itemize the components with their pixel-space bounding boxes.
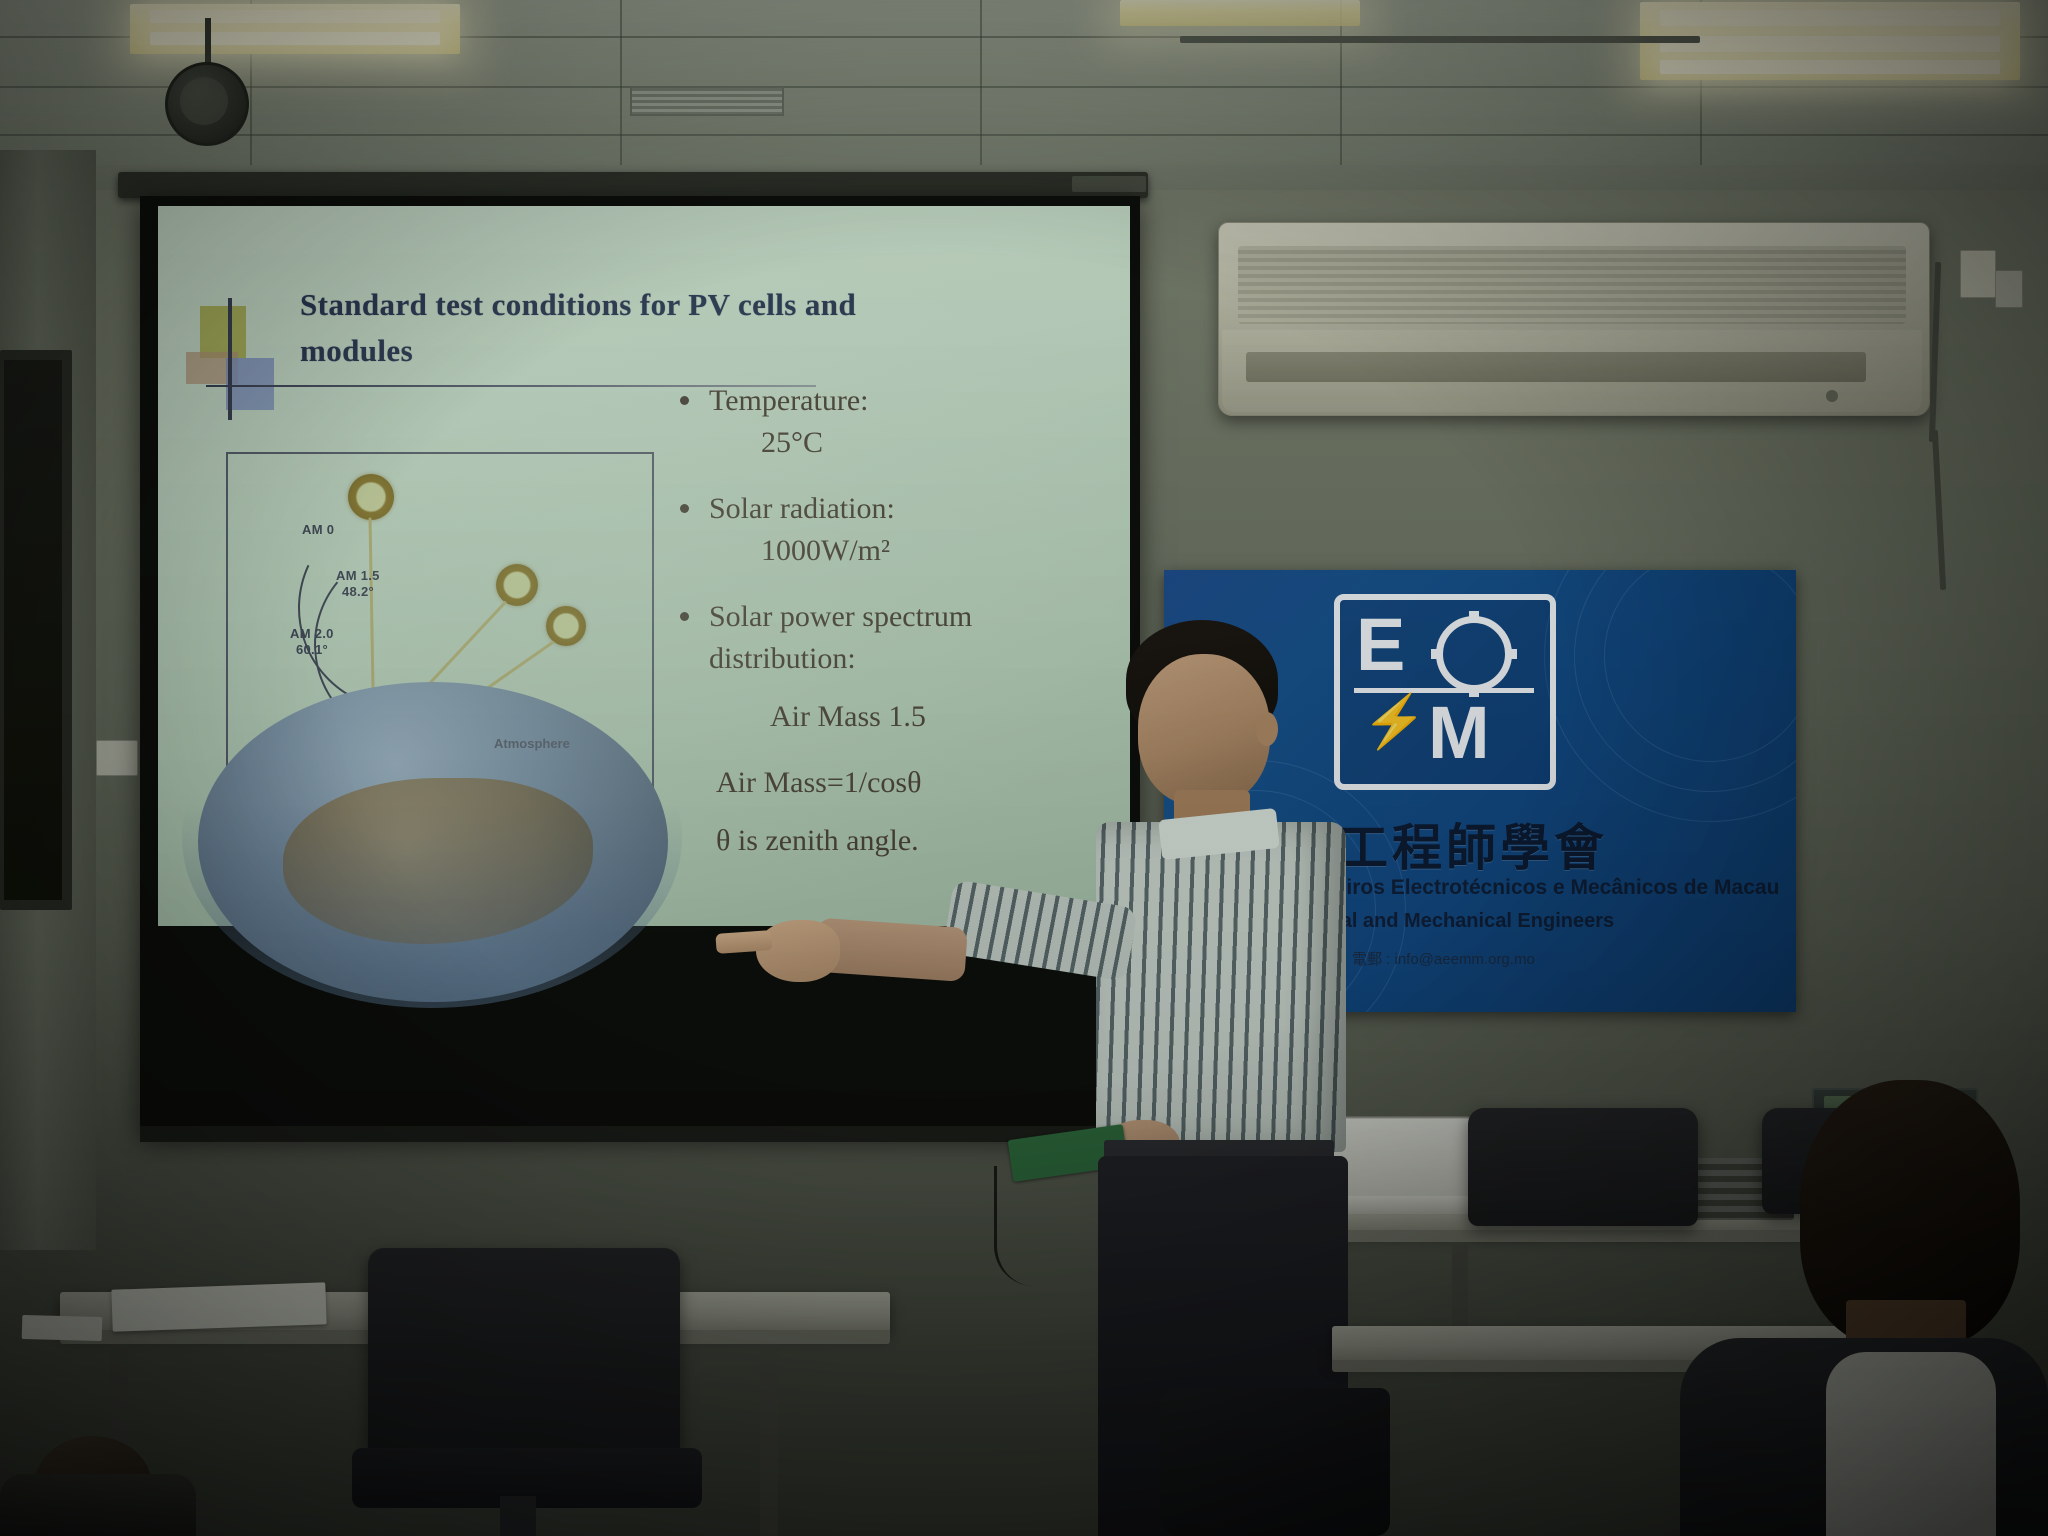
projector-screen-housing [118,172,1148,198]
slide-title-line2: modules [300,328,980,374]
diagram-label-am20: AM 2.0 [290,626,334,642]
ceiling-pipe [1180,36,1700,43]
bullet-dot-icon [680,396,689,405]
wall-outlet[interactable] [1995,270,2023,308]
presenter-torso [1096,822,1346,1152]
atmosphere-band [182,668,682,1008]
bullet-label: Solar power spectrum [709,596,972,638]
diagram-label-atmosphere: Atmosphere [494,736,570,751]
presenter-hand [756,920,840,982]
ceiling-light-tube-left-1 [150,10,440,23]
presenter-cable [994,1166,1037,1286]
slide-deco-vertical-line [228,298,232,420]
bullet-value: distribution: [709,638,972,680]
paper-sheet [22,1315,103,1341]
ceiling-light-tube-right-2 [1660,36,2000,52]
paper-stack [111,1282,326,1331]
diagram-label-angle-482: 48.2° [342,584,374,600]
lecture-room-photo: Standard test conditions for PV cells an… [0,0,2048,1536]
air-conditioner-junction-box [1960,250,1996,298]
diagram-label-angle-601: 60.1° [296,642,328,658]
ceiling-light-tube-right-3 [1660,60,2000,74]
projection-screen-weight-bar [140,1126,1140,1142]
clock-face [180,77,228,125]
air-conditioner-grille [1238,246,1906,324]
slide-note-air-mass-formula: Air Mass=1/cosθ [716,762,921,804]
bullet-dot-icon [680,612,689,621]
diagram-label-am15: AM 1.5 [336,568,380,584]
air-conditioner-vent [1246,352,1866,382]
wall-light-switch[interactable] [96,740,138,776]
air-mass-diagram: AM 0 AM 1.5 48.2° AM 2.0 60.1° Atmospher… [226,452,654,828]
ceiling-light-panel-center [1120,0,1360,26]
slide-deco-olive-square [200,306,246,358]
slide-title-line1: Standard test conditions for PV cells an… [300,282,980,328]
audience-member-2-body [0,1474,196,1536]
presenter-ear [1256,712,1278,746]
bullet-label: Solar radiation: [709,488,895,530]
bullet-value: 25°C [709,422,868,464]
floor-bag [1160,1388,1390,1536]
slide-bullet-temperature: Temperature: 25°C [680,380,1100,464]
audience-member-collar [1826,1352,1996,1536]
slide-bullet-solar-radiation: Solar radiation: 1000W/m² [680,488,1100,572]
ceiling-light-tube-left-2 [150,32,440,45]
bullet-label: Temperature: [709,380,868,422]
left-desk-leg-right [760,1344,778,1536]
slide-deco-blue-square [226,358,274,410]
ceiling-light-tube-right-1 [1660,10,2000,26]
air-conditioner-indicator-light [1826,390,1838,402]
ceiling [0,0,2048,165]
clock-mount [205,18,211,66]
slide-bullet-spectrum: Solar power spectrum distribution: [680,596,1110,680]
bullet-dot-icon [680,504,689,513]
left-chair-back[interactable] [368,1248,680,1460]
presenter-head [1138,654,1270,806]
door-panel [4,360,62,900]
projector-screen-pull-tab[interactable] [1072,176,1146,192]
chair-back-right-1[interactable] [1468,1108,1698,1226]
ceiling-air-vent [630,86,784,116]
bullet-value: 1000W/m² [709,530,895,572]
slide-note-zenith-angle: θ is zenith angle. [716,820,919,862]
left-chair-post [500,1496,536,1536]
slide-note-air-mass-value: Air Mass 1.5 [770,696,926,738]
presenter-pointing-finger [715,930,772,954]
